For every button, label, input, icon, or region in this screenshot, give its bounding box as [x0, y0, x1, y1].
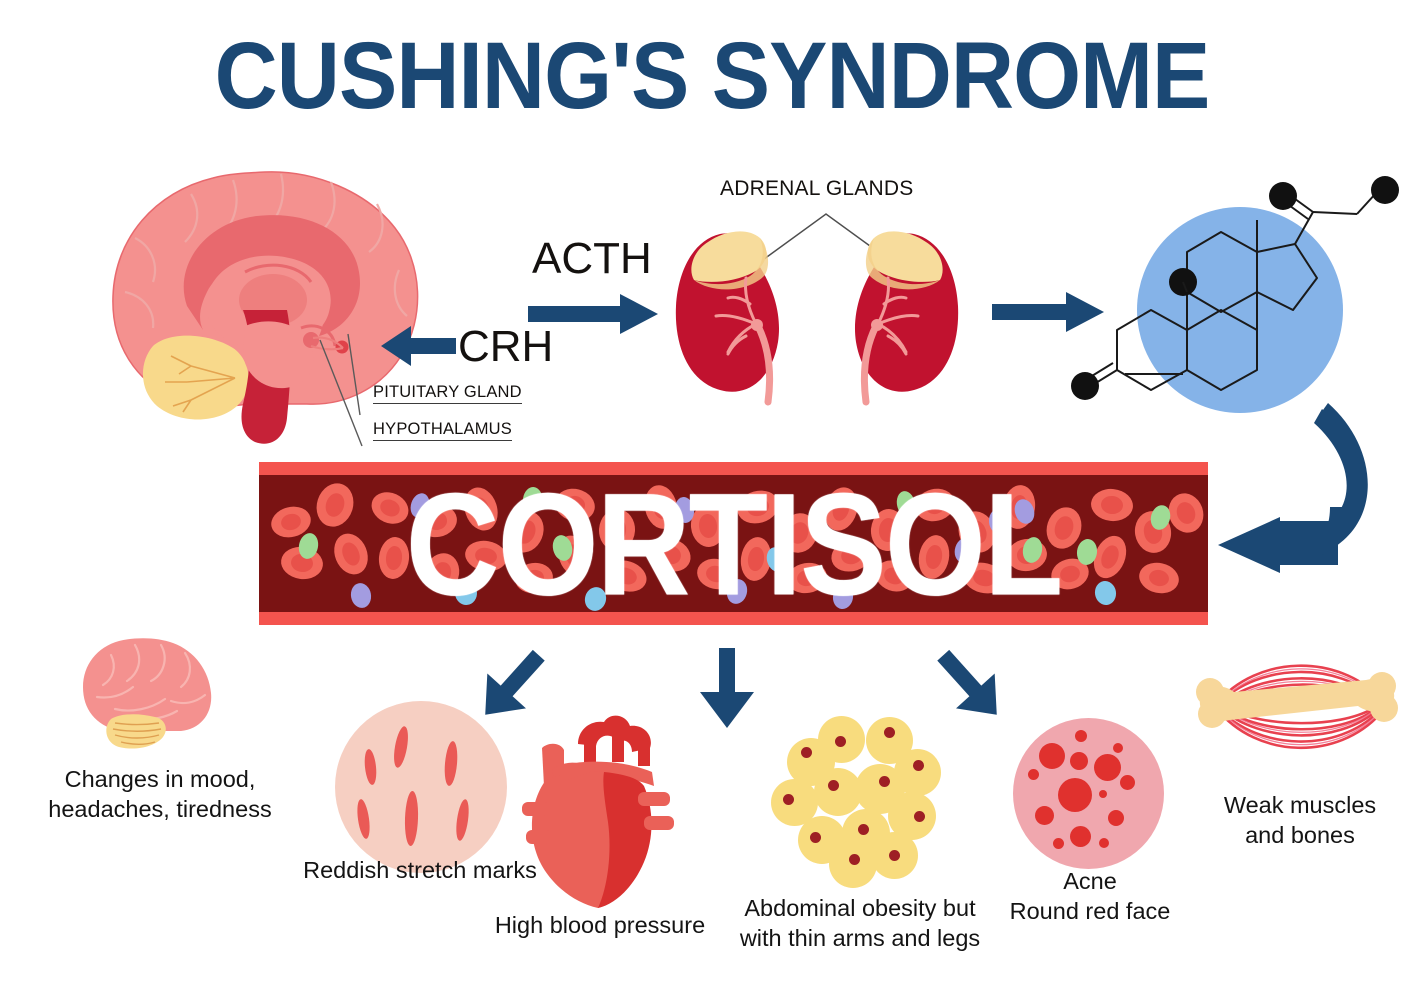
- symptom-mood-changes: Changes in mood, headaches, tiredness: [0, 764, 320, 824]
- adrenal-glands-label: ADRENAL GLANDS: [720, 177, 913, 201]
- symptom-abdominal-obesity: Abdominal obesity but with thin arms and…: [720, 893, 1000, 953]
- acth-arrow-icon: [528, 290, 658, 338]
- caption-line: with thin arms and legs: [720, 923, 1000, 953]
- curved-arrow-down-left-icon: [1218, 395, 1398, 580]
- oxygen-atom: [1071, 372, 1099, 400]
- acth-label: ACTH: [532, 234, 652, 284]
- acne-face-icon: [1013, 718, 1164, 869]
- oxygen-atom: [1371, 176, 1399, 204]
- blood-vessel-cross-section-icon: CORTISOL: [259, 462, 1208, 625]
- skin-stretch-marks-icon: [335, 701, 507, 873]
- symptom-acne-round-face: Acne Round red face: [975, 866, 1205, 926]
- vessel-lumen: [259, 475, 1208, 612]
- infographic-canvas: CUSHING'S SYNDROME: [0, 0, 1424, 1000]
- pituitary-gland-label: PITUITARY GLAND: [373, 383, 522, 404]
- kidneys-with-adrenal-glands-icon: [672, 222, 962, 422]
- down-right-arrow-icon: [930, 645, 1010, 725]
- caption-line: Acne: [975, 866, 1205, 896]
- symptom-weak-muscles-bones: Weak muscles and bones: [1190, 790, 1410, 850]
- oxygen-atom: [1269, 182, 1297, 210]
- page-title: CUSHING'S SYNDROME: [57, 26, 1367, 126]
- down-arrow-icon: [694, 648, 760, 728]
- caption-line: Round red face: [975, 896, 1205, 926]
- caption-line: Abdominal obesity but: [720, 893, 1000, 923]
- heart-icon: [512, 710, 684, 910]
- caption-line: Weak muscles: [1190, 790, 1410, 820]
- muscle-and-bone-icon: [1188, 648, 1403, 768]
- caption-line: High blood pressure: [480, 910, 720, 940]
- symptom-high-blood-pressure: High blood pressure: [480, 910, 720, 940]
- hypothalamus-label: HYPOTHALAMUS: [373, 420, 512, 441]
- fat-cells-icon: [766, 716, 946, 886]
- caption-line: and bones: [1190, 820, 1410, 850]
- crh-arrow-icon: [381, 322, 456, 370]
- caption-line: headaches, tiredness: [0, 794, 320, 824]
- brain-lateral-icon: [75, 633, 215, 753]
- caption-line: Changes in mood,: [0, 764, 320, 794]
